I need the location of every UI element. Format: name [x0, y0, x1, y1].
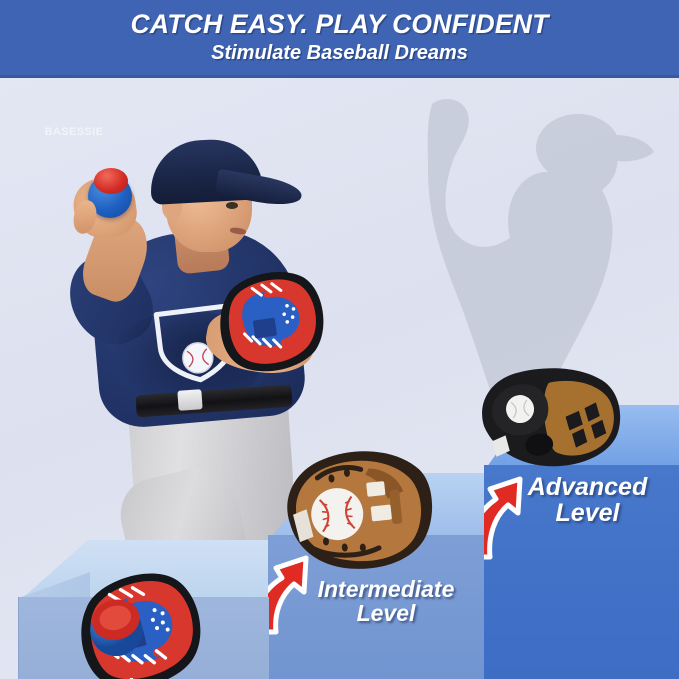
- step-label-intermediate: Intermediate Level: [288, 578, 484, 626]
- page-title: CATCH EASY. PLAY CONFIDENT: [131, 11, 549, 39]
- step-label-advanced: Advanced Level: [500, 474, 675, 526]
- header-banner: CATCH EASY. PLAY CONFIDENT Stimulate Bas…: [0, 0, 679, 78]
- player-eye: [226, 202, 238, 209]
- page-subtitle: Stimulate Baseball Dreams: [211, 42, 468, 64]
- paddle-catch-mitt-held-icon: [206, 256, 339, 385]
- velcro-ball-top: [94, 168, 128, 194]
- scene-photo: BASESSIE: [0, 78, 679, 679]
- product-marketing-image: CATCH EASY. PLAY CONFIDENT Stimulate Bas…: [0, 0, 679, 679]
- belt-buckle: [177, 389, 202, 411]
- jersey-logo-text: BASESSIE: [30, 126, 118, 138]
